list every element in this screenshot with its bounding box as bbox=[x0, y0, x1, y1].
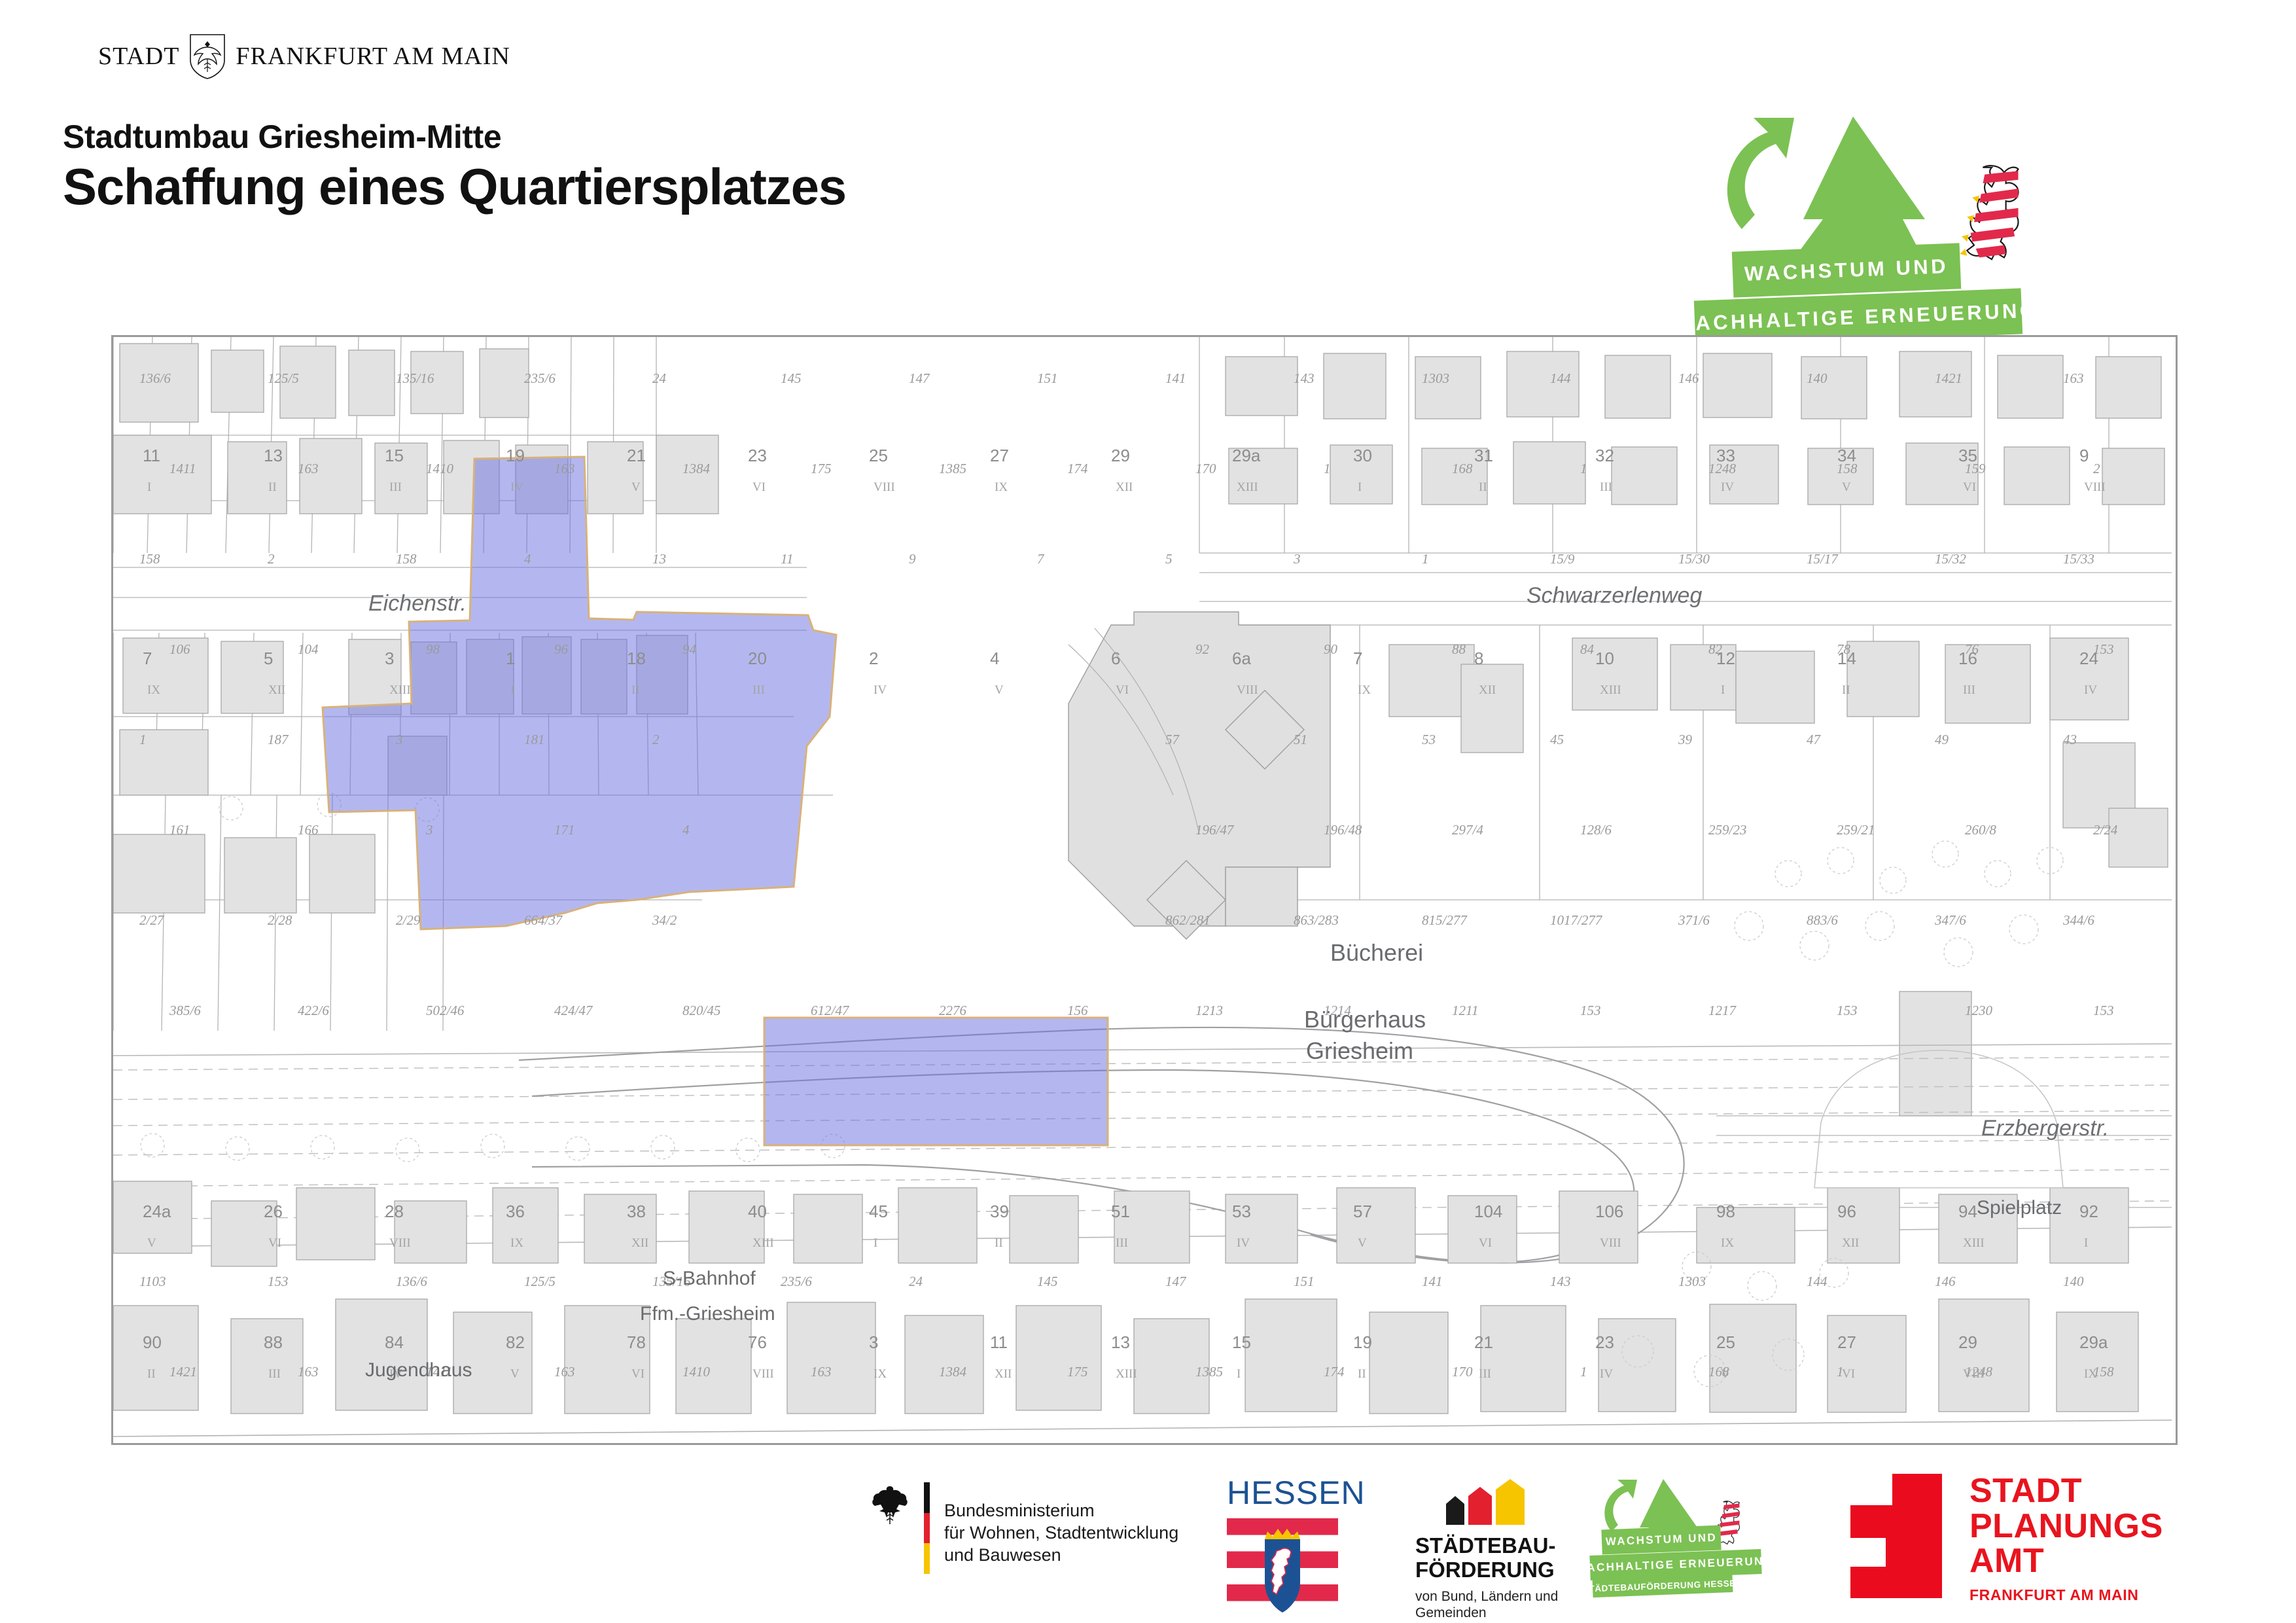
svg-text:53: 53 bbox=[1422, 732, 1436, 747]
svg-text:612/47: 612/47 bbox=[811, 1003, 850, 1018]
svg-text:V: V bbox=[1721, 1367, 1730, 1381]
bmwsb-line-3: und Bauwesen bbox=[944, 1544, 1178, 1566]
svg-text:V: V bbox=[510, 1367, 520, 1381]
svg-text:VI: VI bbox=[1116, 683, 1129, 697]
svg-text:7: 7 bbox=[1037, 551, 1045, 567]
svg-text:153: 153 bbox=[1580, 1003, 1601, 1018]
svg-text:XIII: XIII bbox=[389, 683, 411, 697]
svg-text:II: II bbox=[631, 683, 640, 697]
svg-text:153: 153 bbox=[2093, 1003, 2114, 1018]
svg-text:163: 163 bbox=[298, 1364, 319, 1380]
svg-text:883/6: 883/6 bbox=[1807, 912, 1838, 928]
svg-text:III: III bbox=[752, 683, 765, 697]
stadtplanungsamt-block-icon bbox=[1845, 1474, 1942, 1598]
poi-label-griesheim: Griesheim bbox=[1306, 1037, 1413, 1065]
svg-text:24a: 24a bbox=[143, 1202, 171, 1221]
svg-text:7: 7 bbox=[143, 649, 152, 668]
svg-text:38: 38 bbox=[627, 1202, 646, 1221]
svg-text:664/37: 664/37 bbox=[524, 912, 563, 928]
svg-text:II: II bbox=[1358, 1367, 1366, 1381]
svg-text:78: 78 bbox=[627, 1332, 646, 1352]
svg-text:VI: VI bbox=[1479, 1236, 1492, 1250]
svg-text:2/27: 2/27 bbox=[139, 912, 165, 928]
poi-label-s-bahnhof: S-Bahnhof bbox=[663, 1268, 756, 1290]
svg-text:344/6: 344/6 bbox=[2062, 912, 2094, 928]
svg-text:146: 146 bbox=[1935, 1274, 1956, 1289]
svg-text:1: 1 bbox=[1422, 551, 1429, 567]
wachstum-band-1: WACHSTUM UND bbox=[1732, 243, 1961, 297]
svg-text:XII: XII bbox=[1479, 683, 1496, 697]
svg-text:151: 151 bbox=[1037, 370, 1058, 386]
svg-text:IV: IV bbox=[2084, 683, 2097, 697]
wachstum-band-1-footer: WACHSTUM UND bbox=[1601, 1525, 1721, 1555]
svg-text:25: 25 bbox=[869, 446, 888, 465]
poi-label-buecherei: Bücherei bbox=[1330, 939, 1423, 967]
svg-text:125/5: 125/5 bbox=[268, 370, 299, 386]
svg-text:1: 1 bbox=[1580, 1364, 1587, 1380]
svg-text:34/2: 34/2 bbox=[652, 912, 677, 928]
svg-text:I: I bbox=[147, 480, 151, 494]
svg-text:260/8: 260/8 bbox=[1965, 822, 1996, 838]
svg-text:1303: 1303 bbox=[1678, 1274, 1706, 1289]
svg-text:51: 51 bbox=[1111, 1202, 1130, 1221]
svg-text:153: 153 bbox=[268, 1274, 289, 1289]
svg-text:IX: IX bbox=[1358, 683, 1371, 697]
svg-text:1385: 1385 bbox=[1195, 1364, 1223, 1380]
svg-text:XIII: XIII bbox=[1116, 1367, 1137, 1381]
svg-text:424/47: 424/47 bbox=[554, 1003, 593, 1018]
three-houses-icon bbox=[1439, 1478, 1531, 1525]
svg-text:196/47: 196/47 bbox=[1195, 822, 1235, 838]
svg-text:2: 2 bbox=[2093, 461, 2100, 476]
svg-text:20: 20 bbox=[748, 649, 767, 668]
svg-text:8: 8 bbox=[1474, 649, 1483, 668]
svg-text:371/6: 371/6 bbox=[1678, 912, 1710, 928]
svg-text:145: 145 bbox=[781, 370, 802, 386]
svg-text:29a: 29a bbox=[2079, 1332, 2108, 1352]
svg-text:45: 45 bbox=[869, 1202, 888, 1221]
svg-text:1017/277: 1017/277 bbox=[1550, 912, 1603, 928]
street-label-eichenstr: Eichenstr. bbox=[368, 591, 467, 616]
svg-text:3: 3 bbox=[425, 822, 433, 838]
svg-text:82: 82 bbox=[506, 1332, 525, 1352]
svg-text:II: II bbox=[1842, 683, 1850, 697]
svg-text:1303: 1303 bbox=[1422, 370, 1449, 386]
svg-text:IV: IV bbox=[510, 480, 523, 494]
svg-text:106: 106 bbox=[1595, 1202, 1623, 1221]
street-label-erzbergerstr: Erzbergerstr. bbox=[1981, 1116, 2109, 1141]
svg-text:3: 3 bbox=[869, 1332, 878, 1352]
svg-text:V: V bbox=[147, 1236, 156, 1250]
svg-text:VIII: VIII bbox=[1237, 683, 1258, 697]
svg-text:26: 26 bbox=[264, 1202, 283, 1221]
svg-text:84: 84 bbox=[385, 1332, 404, 1352]
svg-text:175: 175 bbox=[1067, 1364, 1088, 1380]
svg-text:57: 57 bbox=[1353, 1202, 1372, 1221]
svg-text:25: 25 bbox=[1716, 1332, 1735, 1352]
svg-text:90: 90 bbox=[1324, 641, 1338, 657]
svg-text:28: 28 bbox=[385, 1202, 404, 1221]
street-label-schwarzerlenweg: Schwarzerlenweg bbox=[1527, 583, 1702, 609]
hessen-wordmark: HESSEN bbox=[1227, 1474, 1345, 1512]
svg-text:57: 57 bbox=[1165, 732, 1180, 747]
svg-text:2/28: 2/28 bbox=[268, 912, 292, 928]
svg-text:135/16: 135/16 bbox=[396, 370, 434, 386]
svg-text:96: 96 bbox=[1837, 1202, 1856, 1221]
svg-text:XIII: XIII bbox=[752, 1236, 774, 1250]
svg-text:385/6: 385/6 bbox=[169, 1003, 201, 1018]
svg-text:94: 94 bbox=[682, 641, 697, 657]
svg-text:3: 3 bbox=[395, 732, 403, 747]
poi-label-spielplatz: Spielplatz bbox=[1977, 1197, 2062, 1219]
svg-text:40: 40 bbox=[748, 1202, 767, 1221]
svg-text:144: 144 bbox=[1807, 1274, 1828, 1289]
svg-text:3: 3 bbox=[1293, 551, 1301, 567]
wachstum-erneuerung-logo-footer: WACHSTUM UND NACHHALTIGE ERNEUERUNG STÄD… bbox=[1590, 1474, 1812, 1598]
svg-text:I: I bbox=[1721, 683, 1725, 697]
svg-text:104: 104 bbox=[298, 641, 319, 657]
svg-text:24: 24 bbox=[652, 370, 667, 386]
svg-text:III: III bbox=[1963, 683, 1975, 697]
svg-text:145: 145 bbox=[1037, 1274, 1058, 1289]
svg-text:51: 51 bbox=[1294, 732, 1307, 747]
svg-text:1411: 1411 bbox=[169, 461, 196, 476]
svg-text:47: 47 bbox=[1807, 732, 1822, 747]
svg-text:98: 98 bbox=[426, 641, 440, 657]
svg-text:125/5: 125/5 bbox=[524, 1274, 556, 1289]
page-title: Schaffung eines Quartiersplatzes bbox=[63, 157, 846, 217]
svg-text:I: I bbox=[1237, 1367, 1241, 1381]
svg-text:15/32: 15/32 bbox=[1935, 551, 1966, 567]
svg-text:6: 6 bbox=[1111, 649, 1120, 668]
svg-text:I: I bbox=[2084, 1236, 2088, 1250]
svg-text:140: 140 bbox=[2063, 1274, 2084, 1289]
svg-text:1211: 1211 bbox=[1452, 1003, 1478, 1018]
svg-text:V: V bbox=[631, 480, 641, 494]
svg-text:34: 34 bbox=[1837, 446, 1856, 465]
svg-text:21: 21 bbox=[1474, 1332, 1493, 1352]
svg-text:15/9: 15/9 bbox=[1550, 551, 1575, 567]
svg-text:16: 16 bbox=[1958, 649, 1977, 668]
svg-text:VI: VI bbox=[1842, 1367, 1855, 1381]
svg-text:171: 171 bbox=[554, 822, 575, 838]
stadtplanungsamt-line-2: PLANUNGS bbox=[1969, 1509, 2163, 1544]
svg-text:I: I bbox=[874, 1236, 877, 1250]
svg-text:146: 146 bbox=[1678, 370, 1699, 386]
svg-text:422/6: 422/6 bbox=[298, 1003, 329, 1018]
svg-text:1213: 1213 bbox=[1195, 1003, 1223, 1018]
svg-text:19: 19 bbox=[506, 446, 525, 465]
svg-text:VIII: VIII bbox=[1963, 1367, 1985, 1381]
svg-text:1410: 1410 bbox=[682, 1364, 711, 1380]
map-canvas: 136/6125/5135/16235/62414514715114114313… bbox=[113, 337, 2172, 1439]
svg-text:502/46: 502/46 bbox=[426, 1003, 465, 1018]
svg-text:163: 163 bbox=[2063, 370, 2084, 386]
hessen-lion-icon bbox=[1960, 166, 2018, 259]
svg-text:35: 35 bbox=[1958, 446, 1977, 465]
svg-text:174: 174 bbox=[1324, 1364, 1345, 1380]
svg-text:39: 39 bbox=[990, 1202, 1009, 1221]
svg-text:19: 19 bbox=[1353, 1332, 1372, 1352]
svg-text:820/45: 820/45 bbox=[682, 1003, 720, 1018]
svg-text:18: 18 bbox=[627, 649, 646, 668]
stadtplanungsamt-line-4: FRANKFURT AM MAIN bbox=[1969, 1586, 2163, 1604]
svg-text:15: 15 bbox=[385, 446, 404, 465]
svg-text:1384: 1384 bbox=[939, 1364, 967, 1380]
svg-text:V: V bbox=[1358, 1236, 1367, 1250]
svg-text:147: 147 bbox=[1165, 1274, 1187, 1289]
svg-text:863/283: 863/283 bbox=[1294, 912, 1339, 928]
stadtplanungsamt-line-3: AMT bbox=[1969, 1544, 2163, 1579]
svg-text:106: 106 bbox=[169, 641, 190, 657]
svg-text:4: 4 bbox=[524, 551, 531, 567]
svg-text:VI: VI bbox=[1963, 480, 1976, 494]
svg-text:27: 27 bbox=[1837, 1332, 1856, 1352]
svg-text:V: V bbox=[995, 683, 1004, 697]
svg-text:1: 1 bbox=[506, 649, 515, 668]
svg-text:XIII: XIII bbox=[1237, 480, 1258, 494]
svg-text:29a: 29a bbox=[1232, 446, 1261, 465]
svg-text:2/24: 2/24 bbox=[2093, 822, 2118, 838]
svg-text:IV: IV bbox=[874, 683, 887, 697]
svg-text:1410: 1410 bbox=[426, 461, 454, 476]
project-subtitle: Stadtumbau Griesheim-Mitte bbox=[63, 118, 501, 156]
bmwsb-line-2: für Wohnen, Stadtentwicklung bbox=[944, 1522, 1178, 1544]
svg-text:I: I bbox=[510, 683, 514, 697]
svg-text:III: III bbox=[268, 1367, 281, 1381]
svg-text:15: 15 bbox=[1232, 1332, 1251, 1352]
svg-text:84: 84 bbox=[1580, 641, 1595, 657]
svg-text:31: 31 bbox=[1474, 446, 1493, 465]
german-federal-eagle-icon bbox=[870, 1482, 910, 1529]
svg-text:11: 11 bbox=[143, 446, 160, 465]
svg-text:92: 92 bbox=[1195, 641, 1210, 657]
svg-text:I: I bbox=[1358, 480, 1362, 494]
svg-text:1103: 1103 bbox=[139, 1274, 166, 1289]
svg-text:15/17: 15/17 bbox=[1807, 551, 1839, 567]
svg-text:104: 104 bbox=[1474, 1202, 1502, 1221]
svg-text:90: 90 bbox=[143, 1332, 162, 1352]
svg-text:XII: XII bbox=[995, 1367, 1012, 1381]
svg-text:143: 143 bbox=[1294, 370, 1315, 386]
svg-text:III: III bbox=[389, 480, 402, 494]
svg-text:3: 3 bbox=[385, 649, 394, 668]
svg-text:7: 7 bbox=[1353, 649, 1362, 668]
svg-text:96: 96 bbox=[554, 641, 569, 657]
svg-text:27: 27 bbox=[990, 446, 1009, 465]
svg-text:1217: 1217 bbox=[1708, 1003, 1737, 1018]
svg-text:13: 13 bbox=[1111, 1332, 1130, 1352]
svg-text:12: 12 bbox=[1716, 649, 1735, 668]
svg-text:6a: 6a bbox=[1232, 649, 1251, 668]
svg-text:2: 2 bbox=[652, 732, 660, 747]
svg-text:92: 92 bbox=[2079, 1202, 2098, 1221]
svg-text:XII: XII bbox=[631, 1236, 648, 1250]
svg-text:XII: XII bbox=[1116, 480, 1133, 494]
svg-text:151: 151 bbox=[1294, 1274, 1315, 1289]
svg-text:II: II bbox=[995, 1236, 1003, 1250]
svg-text:163: 163 bbox=[811, 1364, 832, 1380]
svg-text:9: 9 bbox=[909, 551, 916, 567]
svg-text:141: 141 bbox=[1422, 1274, 1443, 1289]
svg-text:23: 23 bbox=[1595, 1332, 1614, 1352]
svg-text:IV: IV bbox=[1721, 480, 1734, 494]
svg-text:5: 5 bbox=[1165, 551, 1173, 567]
svg-text:4: 4 bbox=[990, 649, 999, 668]
svg-text:IX: IX bbox=[1721, 1236, 1734, 1250]
svg-text:24: 24 bbox=[909, 1274, 923, 1289]
svg-text:IX: IX bbox=[147, 683, 160, 697]
svg-text:9: 9 bbox=[2079, 446, 2089, 465]
svg-text:143: 143 bbox=[1550, 1274, 1571, 1289]
svg-text:158: 158 bbox=[139, 551, 160, 567]
svg-text:III: III bbox=[1116, 1236, 1128, 1250]
svg-text:2276: 2276 bbox=[939, 1003, 967, 1018]
stadtplanungsamt-line-1: STADT bbox=[1969, 1474, 2163, 1509]
bmwsb-line-1: Bundesministerium bbox=[944, 1499, 1178, 1522]
svg-text:XII: XII bbox=[268, 683, 285, 697]
svg-text:161: 161 bbox=[169, 822, 190, 838]
svg-text:128/6: 128/6 bbox=[1580, 822, 1612, 838]
svg-text:1384: 1384 bbox=[682, 461, 711, 476]
svg-text:181: 181 bbox=[524, 732, 545, 747]
svg-text:VIII: VIII bbox=[1600, 1236, 1621, 1250]
svg-text:15/30: 15/30 bbox=[1678, 551, 1710, 567]
svg-text:259/21: 259/21 bbox=[1837, 822, 1875, 838]
svg-text:V: V bbox=[1842, 480, 1851, 494]
svg-text:VIII: VIII bbox=[874, 480, 895, 494]
frankfurt-eagle-crest-icon bbox=[188, 33, 226, 80]
svg-text:IX: IX bbox=[510, 1236, 523, 1250]
svg-text:76: 76 bbox=[748, 1332, 767, 1352]
svg-text:33: 33 bbox=[1716, 446, 1735, 465]
svg-text:32: 32 bbox=[1595, 446, 1614, 465]
svg-text:1421: 1421 bbox=[169, 1364, 197, 1380]
svg-text:1: 1 bbox=[1324, 461, 1331, 476]
svg-text:43: 43 bbox=[2063, 732, 2077, 747]
svg-text:29: 29 bbox=[1958, 1332, 1977, 1352]
svg-text:29: 29 bbox=[1111, 446, 1130, 465]
svg-text:815/277: 815/277 bbox=[1422, 912, 1468, 928]
svg-text:XIII: XIII bbox=[1600, 683, 1621, 697]
svg-text:14: 14 bbox=[1837, 649, 1856, 668]
svg-text:174: 174 bbox=[1067, 461, 1088, 476]
svg-text:196/48: 196/48 bbox=[1324, 822, 1362, 838]
stadtplanungsamt-logo: STADT PLANUNGS AMT FRANKFURT AM MAIN bbox=[1845, 1474, 2163, 1604]
svg-text:49: 49 bbox=[1935, 732, 1949, 747]
svg-text:II: II bbox=[147, 1367, 156, 1381]
svg-text:VI: VI bbox=[631, 1367, 645, 1381]
page-header: STADT FRANKFURT AM MAIN Stadtumbau Gries… bbox=[0, 0, 2296, 327]
svg-text:IV: IV bbox=[1237, 1236, 1250, 1250]
svg-text:94: 94 bbox=[1958, 1202, 1977, 1221]
poi-label-ffm-griesheim: Ffm.-Griesheim bbox=[640, 1303, 775, 1325]
svg-text:IX: IX bbox=[874, 1367, 887, 1381]
hessen-shield-icon bbox=[1227, 1518, 1338, 1618]
svg-text:VIII: VIII bbox=[752, 1367, 774, 1381]
svg-text:163: 163 bbox=[554, 461, 575, 476]
svg-text:15/33: 15/33 bbox=[2063, 551, 2094, 567]
svg-text:III: III bbox=[1479, 1367, 1491, 1381]
svg-text:13: 13 bbox=[652, 551, 666, 567]
svg-text:88: 88 bbox=[264, 1332, 283, 1352]
svg-text:2: 2 bbox=[869, 649, 878, 668]
svg-text:297/4: 297/4 bbox=[1452, 822, 1483, 838]
page-footer: Bundesministerium für Wohnen, Stadtentwi… bbox=[0, 1459, 2296, 1623]
svg-text:168: 168 bbox=[1452, 461, 1473, 476]
svg-text:1230: 1230 bbox=[1965, 1003, 1993, 1018]
staedtebau-sub-line-1: von Bund, Ländern und bbox=[1415, 1588, 1561, 1605]
svg-text:862/281: 862/281 bbox=[1165, 912, 1210, 928]
svg-text:1385: 1385 bbox=[939, 461, 966, 476]
svg-text:347/6: 347/6 bbox=[1934, 912, 1966, 928]
svg-text:II: II bbox=[268, 480, 277, 494]
poi-label-buergerhaus: Bürgerhaus bbox=[1304, 1006, 1426, 1033]
city-logo-word-frankfurt-am-main: FRANKFURT AM MAIN bbox=[236, 42, 510, 71]
svg-text:VIII: VIII bbox=[389, 1236, 411, 1250]
bmwsb-logo: Bundesministerium für Wohnen, Stadtentwi… bbox=[870, 1482, 1178, 1574]
svg-text:II: II bbox=[1479, 480, 1487, 494]
hessen-logo: HESSEN bbox=[1227, 1474, 1345, 1618]
poi-label-jugendhaus: Jugendhaus bbox=[365, 1359, 472, 1382]
svg-text:24: 24 bbox=[2079, 649, 2098, 668]
svg-text:170: 170 bbox=[1195, 461, 1216, 476]
svg-text:5: 5 bbox=[264, 649, 273, 668]
svg-text:141: 141 bbox=[1165, 370, 1186, 386]
svg-text:4: 4 bbox=[682, 822, 690, 838]
svg-text:XIII: XIII bbox=[1963, 1236, 1985, 1250]
svg-text:11: 11 bbox=[781, 551, 793, 567]
staedtebau-title-line-1: STÄDTEBAU- bbox=[1415, 1534, 1561, 1558]
svg-text:30: 30 bbox=[1353, 446, 1372, 465]
svg-text:36: 36 bbox=[506, 1202, 525, 1221]
svg-text:IV: IV bbox=[1600, 1367, 1613, 1381]
staedtebau-sub-line-2: Gemeinden bbox=[1415, 1605, 1561, 1621]
svg-text:10: 10 bbox=[1595, 649, 1614, 668]
svg-text:11: 11 bbox=[990, 1332, 1008, 1352]
svg-text:VIII: VIII bbox=[2084, 480, 2106, 494]
svg-text:140: 140 bbox=[1807, 370, 1828, 386]
svg-text:259/23: 259/23 bbox=[1708, 822, 1746, 838]
svg-text:147: 147 bbox=[909, 370, 930, 386]
svg-text:136/6: 136/6 bbox=[396, 1274, 427, 1289]
svg-text:156: 156 bbox=[1067, 1003, 1088, 1018]
svg-text:IX: IX bbox=[2084, 1367, 2097, 1381]
svg-text:2: 2 bbox=[268, 551, 275, 567]
svg-text:IX: IX bbox=[995, 480, 1008, 494]
svg-text:21: 21 bbox=[627, 446, 646, 465]
svg-text:39: 39 bbox=[1678, 732, 1693, 747]
svg-text:1421: 1421 bbox=[1935, 370, 1962, 386]
svg-text:VI: VI bbox=[268, 1236, 281, 1250]
svg-text:170: 170 bbox=[1452, 1364, 1473, 1380]
svg-text:98: 98 bbox=[1716, 1202, 1735, 1221]
svg-text:187: 187 bbox=[268, 732, 289, 747]
svg-text:1: 1 bbox=[1580, 461, 1587, 476]
svg-text:153: 153 bbox=[1837, 1003, 1858, 1018]
svg-text:163: 163 bbox=[554, 1364, 575, 1380]
cadastral-map[interactable]: 136/6125/5135/16235/62414514715114114313… bbox=[111, 335, 2178, 1445]
city-logo-word-stadt: STADT bbox=[98, 42, 179, 71]
svg-text:1: 1 bbox=[139, 732, 147, 747]
svg-text:45: 45 bbox=[1550, 732, 1564, 747]
svg-text:235/6: 235/6 bbox=[781, 1274, 812, 1289]
city-of-frankfurt-logo: STADT FRANKFURT AM MAIN bbox=[98, 36, 510, 77]
svg-text:175: 175 bbox=[811, 461, 832, 476]
svg-text:144: 144 bbox=[1550, 370, 1571, 386]
svg-text:158: 158 bbox=[396, 551, 417, 567]
svg-text:VI: VI bbox=[752, 480, 766, 494]
